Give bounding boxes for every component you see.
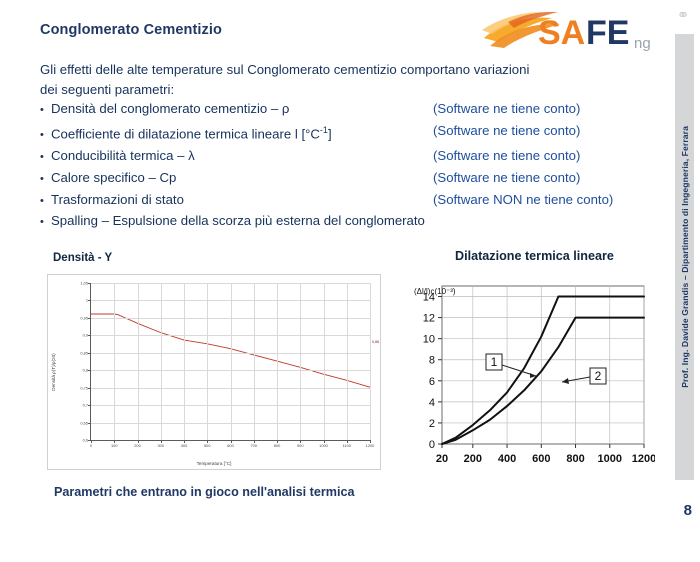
- x-tick-label: 100: [111, 443, 118, 448]
- x-tick-label: 300: [158, 443, 165, 448]
- density-plot-area: 0,60,650,70,750,80,850,90,9511,050100200…: [90, 283, 370, 441]
- bullet-label: Coefficiente di dilatazione termica line…: [51, 121, 332, 144]
- bullet-label-tail: ]: [328, 126, 332, 141]
- page-number: 8: [684, 502, 692, 519]
- list-item: • Densità del conglomerato cementizio – …: [40, 99, 655, 121]
- gridline-vertical: [254, 283, 255, 440]
- x-tick-label: 700: [251, 443, 258, 448]
- list-item: • Spalling – Espulsione della scorza più…: [40, 211, 655, 233]
- y-tick-label: 1: [86, 298, 88, 303]
- logo-wordmark: SA FE ng: [538, 14, 651, 52]
- y-tick-label: 0,95: [80, 315, 88, 320]
- x-tick-label: 0: [90, 443, 92, 448]
- bullet-note: (Software ne tiene conto): [433, 146, 580, 166]
- right-chart-heading: Dilatazione termica lineare: [455, 249, 614, 263]
- gridline-vertical: [300, 283, 301, 440]
- bullet-note: (Software ne tiene conto): [433, 99, 580, 119]
- body-text-block: Gli effetti delle alte temperature sul C…: [40, 60, 655, 233]
- density-chart: Densità ρ(T)/ρ(20) 0,60,650,70,750,80,85…: [47, 274, 381, 470]
- y-tick-label: 12: [423, 313, 435, 325]
- svg-text:1: 1: [491, 355, 498, 369]
- logo-fe: FE: [586, 14, 629, 52]
- page-title: Conglomerato Cementizio: [40, 22, 222, 38]
- y-tick-label: 2: [429, 418, 435, 430]
- bullet-label: Calore specifico – Cp: [51, 168, 176, 188]
- y-tick: [88, 370, 91, 371]
- bullet-note: (Software ne tiene conto): [433, 168, 580, 188]
- y-tick-label: 10: [423, 334, 435, 346]
- x-tick-label: 400: [498, 453, 516, 465]
- list-item: • Trasformazioni di stato (Software NON …: [40, 190, 655, 212]
- x-tick-label: 1200: [366, 443, 375, 448]
- x-tick-label: 200: [134, 443, 141, 448]
- gridline-vertical: [161, 283, 162, 440]
- y-tick-label: 0,6: [83, 438, 88, 443]
- x-tick-label: 1000: [598, 453, 622, 465]
- x-tick-label: 600: [532, 453, 550, 465]
- x-tick-label: 600: [227, 443, 234, 448]
- gridline-vertical: [370, 283, 371, 440]
- footer-caption: Parametri che entrano in gioco nell'anal…: [54, 485, 354, 499]
- svg-text:2: 2: [595, 369, 602, 383]
- y-tick-label: 0,8: [83, 368, 88, 373]
- gridline-vertical: [207, 283, 208, 440]
- x-tick-label: 1200: [632, 453, 655, 465]
- y-tick: [88, 335, 91, 336]
- series-end-label: 0,88: [372, 340, 379, 344]
- x-tick-label: 800: [274, 443, 281, 448]
- gridline-vertical: [138, 283, 139, 440]
- y-tick: [88, 405, 91, 406]
- density-y-axis-title: Densità ρ(T)/ρ(20): [51, 353, 56, 390]
- thermal-expansion-plot: 024681012142020040060080010001200 1 2 (Δ…: [410, 272, 655, 484]
- y-tick-label: 0,7: [83, 403, 88, 408]
- bullet-label: Densità del conglomerato cementizio – ρ: [51, 99, 289, 119]
- bullet-icon: •: [40, 126, 51, 146]
- bullet-label-main: Coefficiente di dilatazione termica line…: [51, 126, 320, 141]
- x-tick-label: 200: [464, 453, 482, 465]
- gridline-vertical: [231, 283, 232, 440]
- y-tick-label: 0,65: [80, 420, 88, 425]
- expansion-y-axis-label: (Δl/l)c(10⁻³): [414, 287, 456, 296]
- bullet-note: (Software ne tiene conto): [433, 121, 580, 141]
- bullet-icon: •: [40, 170, 51, 190]
- y-tick-label: 8: [429, 355, 435, 367]
- logo-ng: ng: [634, 35, 651, 52]
- safe-ng-logo: SA FE ng: [482, 8, 662, 56]
- y-tick-label: 4: [429, 397, 435, 409]
- gridline-vertical: [347, 283, 348, 440]
- bullet-note: (Software NON ne tiene conto): [433, 190, 613, 210]
- gridline-vertical: [184, 283, 185, 440]
- density-x-axis-title: Temperatura [°C]: [48, 461, 380, 466]
- left-chart-heading: Densità - Y: [53, 252, 112, 264]
- x-tick-label: 400: [181, 443, 188, 448]
- logo-sa: SA: [538, 14, 585, 52]
- bullet-label: Trasformazioni di stato: [51, 190, 184, 210]
- gridline-vertical: [114, 283, 115, 440]
- y-tick-label: 0,75: [80, 385, 88, 390]
- watermark-icon: ⚭: [675, 6, 691, 26]
- bullet-label: Spalling – Espulsione della scorza più e…: [51, 211, 425, 231]
- plot-frame: [442, 286, 644, 444]
- bullet-label-superscript: -1: [320, 125, 328, 135]
- y-tick-label: 1,05: [80, 281, 88, 286]
- x-tick-label: 1100: [343, 443, 351, 448]
- thermal-expansion-chart: 024681012142020040060080010001200 1 2 (Δ…: [410, 272, 655, 484]
- y-tick-label: 6: [429, 376, 435, 388]
- bullet-icon: •: [40, 101, 51, 121]
- y-tick-label: 0: [429, 439, 435, 451]
- bullet-icon: •: [40, 213, 51, 233]
- x-tick-label: 800: [566, 453, 584, 465]
- x-tick-label: 500: [204, 443, 211, 448]
- intro-line-1: Gli effetti delle alte temperature sul C…: [40, 60, 655, 80]
- list-item: • Calore specifico – Cp (Software ne tie…: [40, 168, 655, 190]
- gridline-vertical: [277, 283, 278, 440]
- x-tick-label: 20: [436, 453, 448, 465]
- parameter-bullet-list: • Densità del conglomerato cementizio – …: [40, 99, 655, 233]
- list-item: • Coefficiente di dilatazione termica li…: [40, 121, 655, 146]
- bullet-icon: •: [40, 148, 51, 168]
- y-tick: [88, 283, 91, 284]
- x-tick-label: 1000: [319, 443, 328, 448]
- slide-root: Conglomerato Cementizio SA FE ng Gli eff…: [0, 0, 700, 525]
- y-tick: [88, 300, 91, 301]
- y-tick: [88, 318, 91, 319]
- list-item: • Conducibilità termica – λ (Software ne…: [40, 146, 655, 168]
- y-tick-label: 0,85: [80, 350, 88, 355]
- bullet-label: Conducibilità termica – λ: [51, 146, 195, 166]
- sidebar-author-text: Prof. Ing. Davide Grandis – Dipartimento…: [680, 126, 690, 388]
- intro-line-2: dei seguenti parametri:: [40, 80, 655, 100]
- x-tick-label: 900: [297, 443, 304, 448]
- y-tick-label: 0,9: [83, 333, 88, 338]
- y-tick: [88, 388, 91, 389]
- y-tick: [88, 423, 91, 424]
- right-sidebar: ⚭ Prof. Ing. Davide Grandis – Dipartimen…: [670, 0, 700, 525]
- gridline-vertical: [324, 283, 325, 440]
- y-tick: [88, 353, 91, 354]
- bullet-icon: •: [40, 192, 51, 212]
- sidebar-text-wrap: Prof. Ing. Davide Grandis – Dipartimento…: [675, 34, 694, 480]
